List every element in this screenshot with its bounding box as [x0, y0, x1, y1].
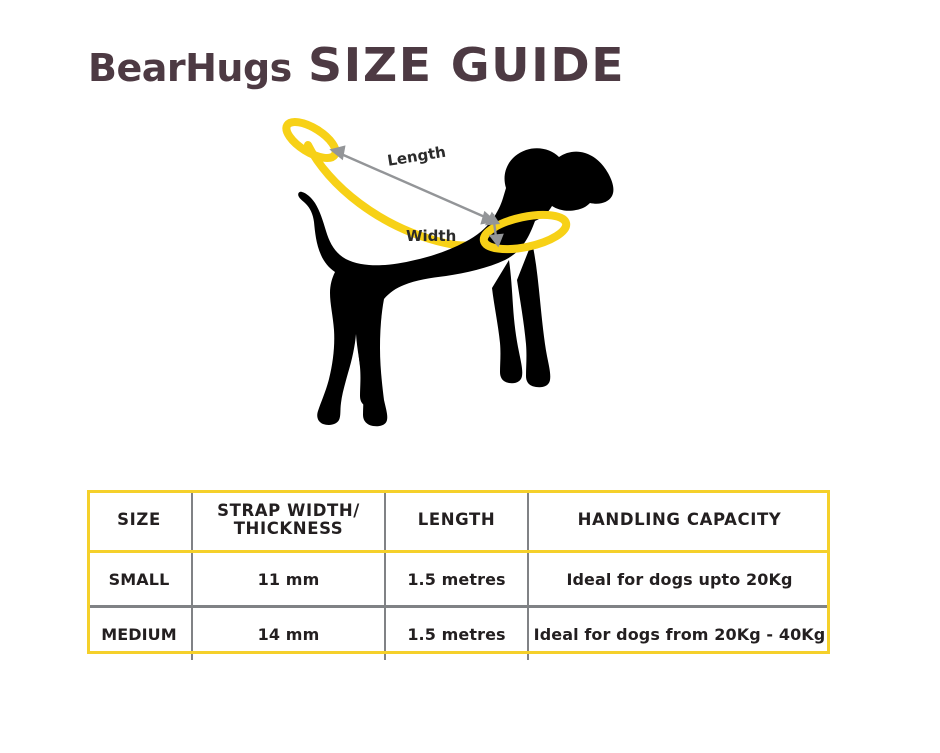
cell-length: 1.5 metres: [385, 552, 528, 607]
cell-size: MEDIUM: [87, 607, 192, 661]
width-label: Width: [406, 227, 456, 245]
page-title: BearHugs SIZE GUIDE: [88, 42, 616, 88]
header-strap-line1: STRAP WIDTH/: [217, 501, 360, 520]
cell-size: SMALL: [87, 552, 192, 607]
cell-strap: 14 mm: [192, 607, 385, 661]
size-guide-table: SIZE STRAP WIDTH/ THICKNESS LENGTH HANDL…: [87, 490, 830, 660]
header-size: SIZE: [87, 490, 192, 552]
cell-strap: 11 mm: [192, 552, 385, 607]
dog-front-leg-near: [517, 242, 550, 387]
cell-length: 1.5 metres: [385, 607, 528, 661]
title-size-guide: SIZE GUIDE: [308, 42, 625, 88]
table-row: SMALL 11 mm 1.5 metres Ideal for dogs up…: [87, 552, 830, 607]
header-length: LENGTH: [385, 490, 528, 552]
header-capacity: HANDLING CAPACITY: [528, 490, 830, 552]
header-strap-line2: THICKNESS: [234, 519, 344, 538]
dog-leash-illustration: [270, 110, 650, 440]
cell-capacity: Ideal for dogs upto 20Kg: [528, 552, 830, 607]
table-header-row: SIZE STRAP WIDTH/ THICKNESS LENGTH HANDL…: [87, 490, 830, 552]
leash-handle-loop: [281, 115, 341, 165]
brand-name: BearHugs: [88, 49, 292, 87]
table-row: MEDIUM 14 mm 1.5 metres Ideal for dogs f…: [87, 607, 830, 661]
header-strap: STRAP WIDTH/ THICKNESS: [192, 490, 385, 552]
cell-capacity: Ideal for dogs from 20Kg - 40Kg: [528, 607, 830, 661]
